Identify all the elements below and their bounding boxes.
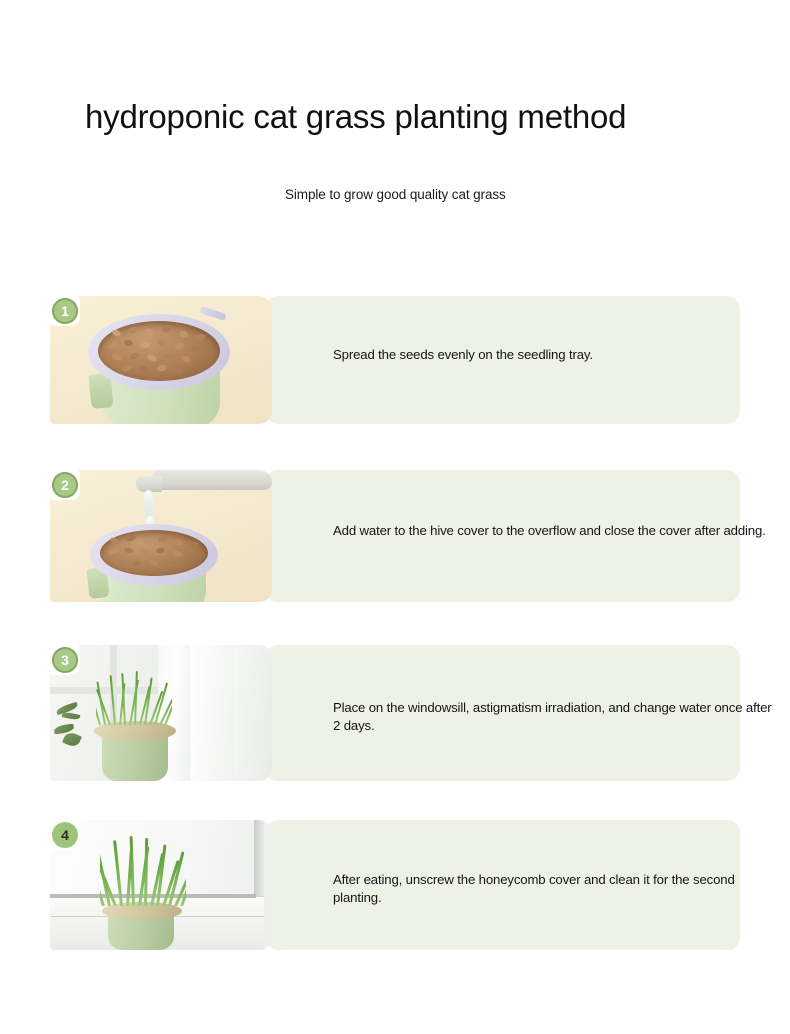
step-description: Add water to the hive cover to the overf… [333,522,778,540]
step-row: 1 Spread the seeds evenly on the seedlin… [50,296,740,424]
page-subtitle: Simple to grow good quality cat grass [285,187,506,202]
step-image-panel: 2 [50,470,272,602]
step-description: Place on the windowsill, astigmatism irr… [333,699,778,735]
step-number-badge: 4 [52,822,78,848]
mature-cat-grass-on-windowsill-photo [50,820,272,950]
step-row: 2 Add water to the hive cover to the ove… [50,470,740,602]
step-row: 4 After eating, unscrew the honeycomb co… [50,820,740,950]
step-description: After eating, unscrew the honeycomb cove… [333,871,778,907]
page-title: hydroponic cat grass planting method [85,96,685,138]
step-image-panel: 4 [50,820,272,950]
step-image-panel: 1 [50,296,272,424]
step-image-panel: 3 [50,645,272,781]
step-number-badge: 2 [52,472,78,498]
step-description: Spread the seeds evenly on the seedling … [333,346,778,364]
step-number-badge: 1 [52,298,78,324]
step-number-badge: 3 [52,647,78,673]
sprouted-grass-on-windowsill-photo [50,645,272,781]
seedling-tray-with-seeds-photo [50,296,272,424]
step-row: 3 Place on the windowsill, astigmatism i… [50,645,740,781]
pouring-water-into-pot-photo [50,470,272,602]
